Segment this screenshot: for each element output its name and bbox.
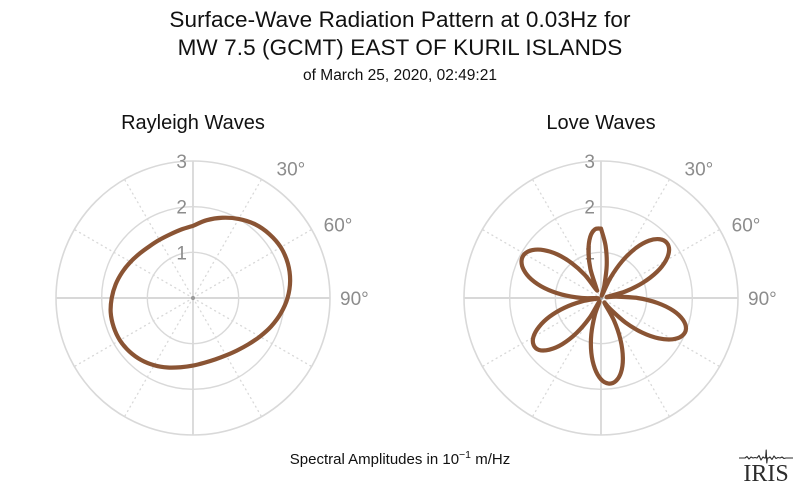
love-spoke-120: [601, 298, 720, 367]
figure-subtitle: of March 25, 2020, 02:49:21: [0, 65, 800, 87]
rayleigh-spoke-120: [193, 298, 312, 367]
rayleigh-spoke-330: [125, 179, 194, 298]
love-rtick-label-2: 2: [584, 198, 595, 219]
rayleigh-spoke-300: [74, 230, 193, 299]
love-theta-label-30: 30°: [685, 159, 714, 180]
iris-logo: IRIS: [737, 449, 795, 489]
rayleigh-spoke-60: [193, 230, 312, 299]
rayleigh-spoke-150: [193, 298, 262, 417]
figure-title-line-1: Surface-Wave Radiation Pattern at 0.03Hz…: [0, 6, 800, 34]
rayleigh-panel-title: Rayleigh Waves: [63, 112, 323, 135]
figure-title-line-2: MW 7.5 (GCMT) EAST OF KURIL ISLANDS: [0, 34, 800, 62]
love-spoke-240: [482, 298, 601, 367]
rayleigh-theta-label-90: 90°: [340, 289, 369, 310]
love-rtick-label-3: 3: [584, 152, 595, 173]
rayleigh-rtick-label-2: 2: [176, 198, 187, 219]
rayleigh-rtick-label-1: 1: [176, 243, 187, 264]
figure-canvas: Surface-Wave Radiation Pattern at 0.03Hz…: [0, 0, 800, 493]
rayleigh-ring-3: [56, 161, 330, 435]
love-ring-2: [510, 207, 693, 390]
love-ring-3: [464, 161, 738, 435]
love-radiation-curve: [522, 228, 686, 383]
rayleigh-theta-label-60: 60°: [324, 216, 353, 237]
love-theta-label-60: 60°: [732, 216, 761, 237]
rayleigh-origin-dot: [191, 296, 195, 300]
rayleigh-rtick-label-3: 3: [176, 152, 187, 173]
love-panel-title: Love Waves: [471, 112, 731, 135]
rayleigh-spoke-30: [193, 179, 262, 298]
love-spoke-30: [601, 179, 670, 298]
figure-title-block: Surface-Wave Radiation Pattern at 0.03Hz…: [0, 6, 800, 87]
caption-prefix: Spectral Amplitudes in 10: [290, 451, 459, 468]
rayleigh-radiation-curve: [111, 218, 291, 368]
rayleigh-ring-1: [147, 252, 238, 343]
rayleigh-spoke-210: [125, 298, 194, 417]
rayleigh-ring-2: [102, 207, 285, 390]
figure-caption: Spectral Amplitudes in 10−1 m/Hz: [0, 449, 800, 468]
love-theta-label-90: 90°: [748, 289, 777, 310]
love-rtick-label-1: 1: [584, 243, 595, 264]
love-spoke-60: [601, 230, 720, 299]
love-spoke-330: [533, 179, 602, 298]
rayleigh-spoke-240: [74, 298, 193, 367]
rayleigh-theta-label-30: 30°: [277, 159, 306, 180]
love-polar-axes: 12330°60°90°: [464, 152, 777, 435]
iris-logo-text: IRIS: [737, 462, 795, 486]
love-ring-1: [555, 252, 646, 343]
caption-suffix: m/Hz: [471, 451, 510, 468]
caption-exponent: −1: [459, 449, 471, 461]
love-spoke-300: [482, 230, 601, 299]
love-spoke-210: [533, 298, 602, 417]
love-spoke-150: [601, 298, 670, 417]
love-origin-dot: [599, 296, 603, 300]
rayleigh-polar-axes: 12330°60°90°: [56, 152, 369, 435]
